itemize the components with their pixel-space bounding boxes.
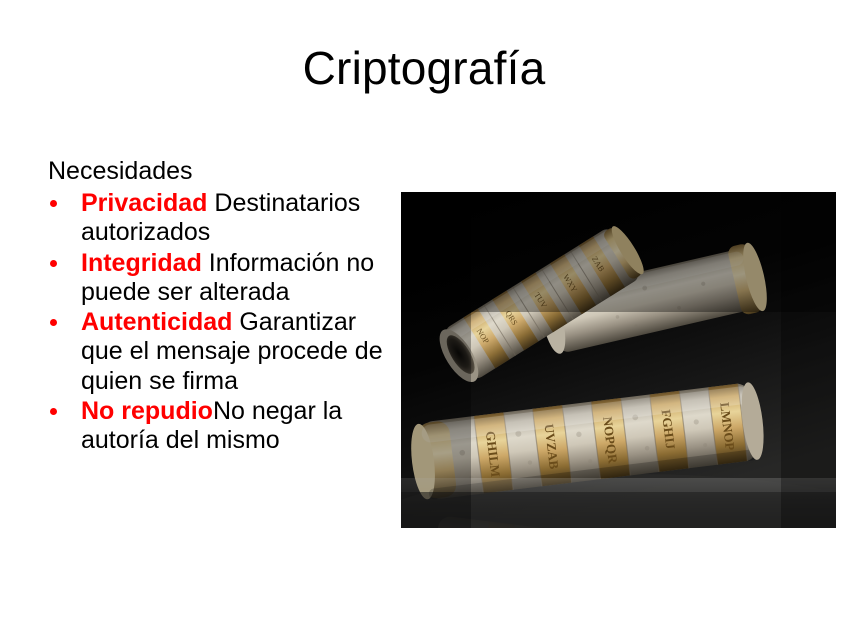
cipher-cylinders-illustration: NOP QRS TUV WXY ZAB — [401, 192, 836, 528]
list-item: Privacidad Destinatarios autorizados — [48, 189, 398, 248]
slide-canvas: Criptografía Necesidades Privacidad Dest… — [0, 0, 848, 635]
bullet-dot-icon — [50, 260, 57, 267]
bullet-keyword: Integridad — [81, 249, 202, 277]
list-item: No repudioNo negar la autoría del mismo — [48, 397, 398, 456]
cipher-cylinders-photo: NOP QRS TUV WXY ZAB — [401, 192, 836, 528]
bullet-keyword: Autenticidad — [81, 308, 232, 336]
bullet-keyword: Privacidad — [81, 189, 207, 217]
list-item: Autenticidad Garantizar que el mensaje p… — [48, 308, 398, 396]
bullet-dot-icon — [50, 408, 57, 415]
intro-label: Necesidades — [48, 157, 398, 186]
bullet-keyword: No repudio — [81, 397, 213, 425]
needs-bullet-list: Privacidad Destinatarios autorizados Int… — [48, 189, 398, 455]
bullet-dot-icon — [50, 200, 57, 207]
bullet-dot-icon — [50, 319, 57, 326]
page-title: Criptografía — [0, 44, 848, 92]
content-text-block: Necesidades Privacidad Destinatarios aut… — [48, 157, 398, 456]
list-item: Integridad Información no puede ser alte… — [48, 249, 398, 308]
